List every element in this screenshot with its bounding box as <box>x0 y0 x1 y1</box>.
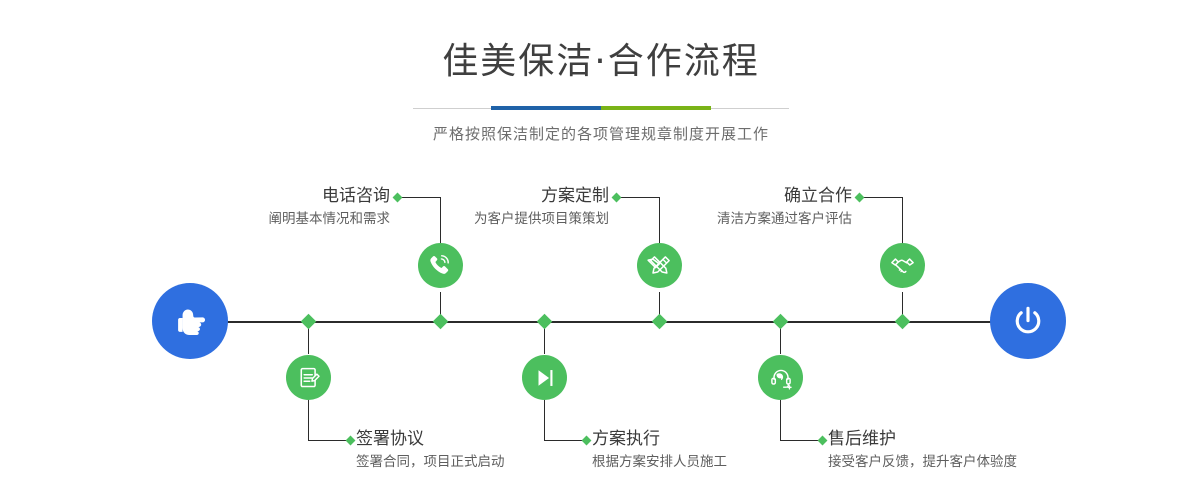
document-pencil-icon <box>296 365 322 391</box>
step-4-title: 方案执行 <box>592 429 832 449</box>
step-5-desc: 清洁方案通过客户评估 <box>612 209 852 229</box>
step-2-label-dot <box>346 436 356 446</box>
pointing-hand-icon <box>169 300 211 342</box>
step-1-icon-badge <box>418 243 463 288</box>
step-6-label: 售后维护 接受客户反馈，提升客户体验度 <box>828 429 1088 472</box>
step-5-stem-label <box>902 197 903 244</box>
step-2-stem-label <box>308 400 309 440</box>
step-6-axis-marker <box>773 314 789 330</box>
handshake-icon <box>889 252 916 279</box>
phone-call-icon <box>427 252 454 279</box>
step-6-icon-badge <box>758 355 803 400</box>
step-6-desc: 接受客户反馈，提升客户体验度 <box>828 452 1088 472</box>
step-4-axis-marker <box>537 314 553 330</box>
title-divider <box>413 106 789 110</box>
timeline-start-badge <box>152 283 228 359</box>
step-4-desc: 根据方案安排人员施工 <box>592 452 832 472</box>
step-3-label: 方案定制 为客户提供项目策策划 <box>369 186 609 229</box>
step-2-elbow <box>308 440 350 441</box>
page-subtitle: 严格按照保洁制定的各项管理规章制度开展工作 <box>0 123 1202 144</box>
timeline-axis <box>215 321 1005 323</box>
step-4-icon-badge <box>522 355 567 400</box>
step-2-title: 签署协议 <box>356 429 596 449</box>
step-2-axis-marker <box>301 314 317 330</box>
step-3-desc: 为客户提供项目策策划 <box>369 209 609 229</box>
step-6-stem-label <box>780 400 781 440</box>
divider-green-segment <box>601 106 711 110</box>
flow-diagram: 佳美保洁·合作流程 严格按照保洁制定的各项管理规章制度开展工作 <box>0 0 1202 502</box>
step-4-stem-label <box>544 400 545 440</box>
step-5-label-dot <box>855 193 865 203</box>
step-1-label: 电话咨询 阐明基本情况和需求 <box>150 186 390 229</box>
step-1-axis-marker <box>433 314 449 330</box>
play-execute-icon <box>532 365 558 391</box>
step-5-title: 确立合作 <box>612 186 852 206</box>
power-icon <box>1007 300 1049 342</box>
page-title: 佳美保洁·合作流程 <box>0 44 1202 80</box>
step-2-icon-badge <box>286 355 331 400</box>
step-5-label: 确立合作 清洁方案通过客户评估 <box>612 186 852 229</box>
timeline-end-badge <box>990 283 1066 359</box>
step-4-elbow <box>544 440 586 441</box>
step-3-title: 方案定制 <box>369 186 609 206</box>
step-4-label: 方案执行 根据方案安排人员施工 <box>592 429 832 472</box>
step-6-elbow <box>780 440 822 441</box>
divider-blue-segment <box>491 106 601 110</box>
step-5-axis-marker <box>895 314 911 330</box>
step-2-desc: 签署合同，项目正式启动 <box>356 452 596 472</box>
headset-support-icon <box>768 365 794 391</box>
step-2-label: 签署协议 签署合同，项目正式启动 <box>356 429 596 472</box>
step-1-desc: 阐明基本情况和需求 <box>150 209 390 229</box>
step-3-icon-badge <box>637 243 682 288</box>
header: 佳美保洁·合作流程 严格按照保洁制定的各项管理规章制度开展工作 <box>0 0 1202 144</box>
step-5-icon-badge <box>880 243 925 288</box>
step-1-title: 电话咨询 <box>150 186 390 206</box>
step-3-axis-marker <box>652 314 668 330</box>
step-6-title: 售后维护 <box>828 429 1088 449</box>
step-5-elbow <box>860 197 903 198</box>
pencil-ruler-icon <box>647 253 673 279</box>
